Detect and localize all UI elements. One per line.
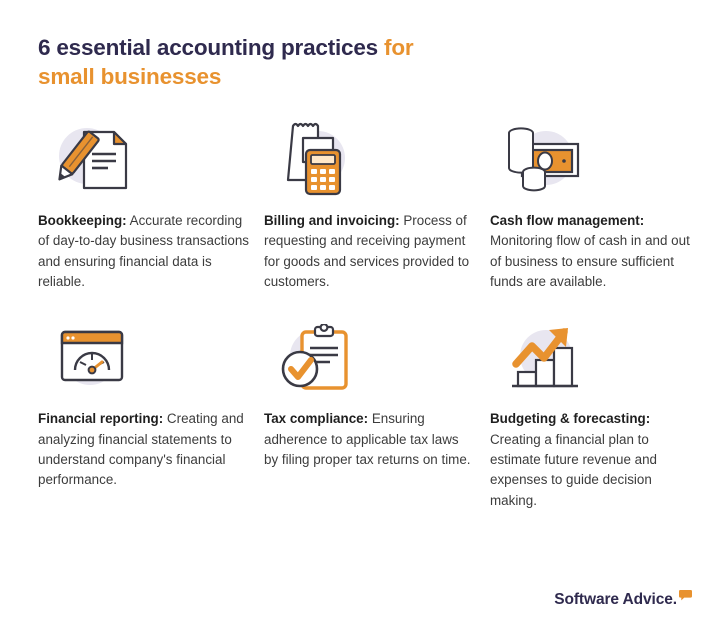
practice-label: Bookkeeping: [38,213,127,228]
practice-card-tax-compliance: Tax compliance: Ensuring adherence to ap… [264,324,476,525]
practice-label: Billing and invoicing: [264,213,400,228]
budgeting-forecasting-icon [494,324,598,396]
practice-card-text: Financial reporting: Creating and analyz… [38,409,250,491]
speech-bubble-icon [679,589,692,607]
infographic-canvas: 6 essential accounting practices for sma… [0,0,720,629]
practice-card-budgeting-forecasting: Budgeting & forecasting: Creating a fina… [490,324,702,525]
tax-compliance-icon [268,324,372,396]
practice-card-text: Billing and invoicing: Process of reques… [264,211,476,293]
page-title-dark: 6 essential accounting practices [38,35,384,60]
practice-card-financial-reporting: Financial reporting: Creating and analyz… [38,324,250,525]
bookkeeping-icon [42,120,146,198]
cash-flow-icon [494,120,598,198]
practice-card-bookkeeping: Bookkeeping: Accurate recording of day-t… [38,120,250,306]
page-title-accent-line2: small businesses [38,64,221,89]
practice-card-text: Budgeting & forecasting: Creating a fina… [490,409,702,511]
practice-card-cash-flow: Cash flow management: Monitoring flow of… [490,120,702,306]
page-title-accent-for: for [384,35,413,60]
financial-reporting-icon [42,324,146,396]
practice-card-billing-invoicing: Billing and invoicing: Process of reques… [264,120,476,306]
practice-card-text: Cash flow management: Monitoring flow of… [490,211,702,293]
practice-label: Tax compliance: [264,411,368,426]
practice-card-text: Bookkeeping: Accurate recording of day-t… [38,211,250,293]
practice-body: Creating a financial plan to estimate fu… [490,432,657,508]
page-title: 6 essential accounting practices for sma… [38,34,558,92]
practices-grid: Bookkeeping: Accurate recording of day-t… [38,120,686,525]
practice-label: Financial reporting: [38,411,163,426]
billing-invoicing-icon [268,120,372,198]
practice-label: Budgeting & forecasting: [490,411,650,426]
brand-logo-text: Software Advice. [554,592,677,608]
practice-label: Cash flow management: [490,213,644,228]
practice-body: Monitoring flow of cash in and out of bu… [490,233,690,289]
practice-card-text: Tax compliance: Ensuring adherence to ap… [264,409,476,470]
brand-logo: Software Advice. [554,592,692,608]
